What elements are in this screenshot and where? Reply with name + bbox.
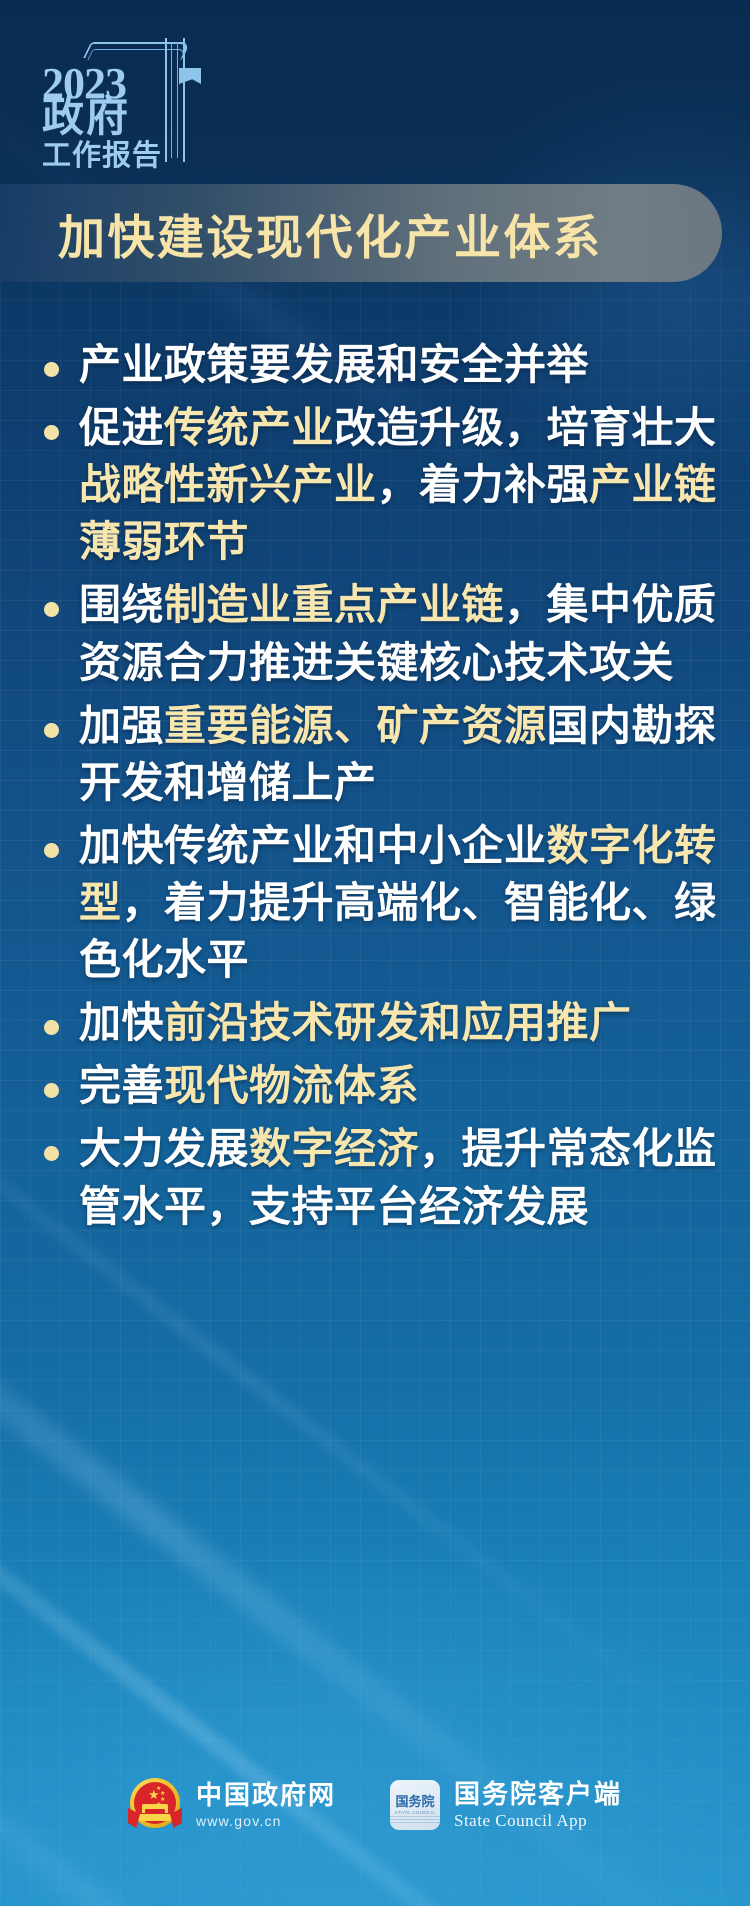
background-glow-bottom — [0, 1526, 750, 1906]
bullet-dot-icon — [44, 1020, 59, 1035]
bullet-plain-segment: 产业政策要发展和安全并举 — [79, 341, 589, 388]
footer: ★ ★ ★ ★ ★ 中国政府网 www.gov.cn 国务院 STATE COU… — [0, 1778, 750, 1832]
bullet-highlight-segment: 传统产业 — [164, 404, 334, 451]
bullet-item: 大力发展数字经济，提升常态化监管水平，支持平台经济发展 — [30, 1120, 720, 1234]
bullet-highlight-segment: 数字经济 — [249, 1125, 419, 1172]
bullet-highlight-segment: 重要能源、矿产资源 — [164, 702, 547, 749]
masthead-line2: 工作报告 — [42, 142, 162, 171]
bullet-dot-icon — [44, 362, 59, 377]
brand-state-council-app[interactable]: 国务院 STATE COUNCIL 国务院客户端 State Council A… — [390, 1780, 622, 1830]
bullet-plain-segment: 围绕 — [79, 581, 164, 628]
light-ray-3 — [0, 1560, 750, 1906]
book-edge-inner — [171, 42, 178, 158]
bullet-text: 加强重要能源、矿产资源国内勘探开发和增储上产 — [79, 697, 720, 811]
bullet-list: 产业政策要发展和安全并举促进传统产业改造升级，培育壮大战略性新兴产业，着力补强产… — [30, 336, 720, 1241]
bullet-item: 完善现代物流体系 — [30, 1057, 720, 1114]
bullet-highlight-segment: 现代物流体系 — [164, 1062, 419, 1109]
book-bookmark-icon — [179, 68, 201, 84]
gov-brand-url: www.gov.cn — [196, 1814, 336, 1828]
bullet-dot-icon — [44, 1083, 59, 1098]
bullet-dot-icon — [44, 1146, 59, 1161]
bullet-plain-segment: 大力发展 — [79, 1125, 249, 1172]
masthead-logo: 2023 政府 工作报告 — [42, 34, 242, 164]
bullet-item: 加快前沿技术研发和应用推广 — [30, 994, 720, 1051]
bullet-highlight-segment: 战略性新兴产业 — [79, 461, 377, 508]
bullet-text: 加快传统产业和中小企业数字化转型，着力提升高端化、智能化、绿色化水平 — [79, 817, 720, 988]
state-council-app-icon: 国务院 STATE COUNCIL — [390, 1780, 440, 1830]
bullet-plain-segment: 完善 — [79, 1062, 164, 1109]
bullet-text: 加快前沿技术研发和应用推广 — [79, 994, 720, 1051]
app-icon-wave — [390, 1814, 440, 1827]
bullet-plain-segment: 加快传统产业和中小企业 — [79, 822, 547, 869]
app-brand-english: State Council App — [454, 1812, 622, 1829]
bullet-text: 完善现代物流体系 — [79, 1057, 720, 1114]
bullet-item: 加强重要能源、矿产资源国内勘探开发和增储上产 — [30, 697, 720, 811]
bullet-highlight-segment: 前沿技术研发和应用推广 — [164, 999, 632, 1046]
gov-brand-name: 中国政府网 — [196, 1782, 336, 1808]
bullet-plain-segment: 改造升级，培育壮大 — [334, 404, 717, 451]
bullet-item: 产业政策要发展和安全并举 — [30, 336, 720, 393]
bullet-plain-segment: ，着力提升高端化、智能化、绿色化水平 — [79, 879, 717, 983]
bullet-item: 围绕制造业重点产业链，集中优质资源合力推进关键核心技术攻关 — [30, 576, 720, 690]
app-brand-name: 国务院客户端 — [454, 1781, 622, 1807]
title-banner: 加快建设现代化产业体系 — [0, 184, 722, 282]
bullet-text: 大力发展数字经济，提升常态化监管水平，支持平台经济发展 — [79, 1120, 720, 1234]
bullet-item: 加快传统产业和中小企业数字化转型，着力提升高端化、智能化、绿色化水平 — [30, 817, 720, 988]
bullet-text: 产业政策要发展和安全并举 — [79, 336, 720, 393]
masthead-line1: 政府 — [42, 96, 130, 138]
poster-root: 2023 政府 工作报告 加快建设现代化产业体系 产业政策要发展和安全并举促进传… — [0, 0, 750, 1906]
bullet-plain-segment: ，着力补强 — [377, 461, 590, 508]
bullet-dot-icon — [44, 602, 59, 617]
brand-gov-cn[interactable]: ★ ★ ★ ★ ★ 中国政府网 www.gov.cn — [128, 1778, 336, 1832]
bullet-text: 围绕制造业重点产业链，集中优质资源合力推进关键核心技术攻关 — [79, 576, 720, 690]
app-icon-label-cn: 国务院 — [395, 1795, 434, 1809]
bullet-dot-icon — [44, 723, 59, 738]
bullet-highlight-segment: 制造业重点产业链 — [164, 581, 504, 628]
bullet-item: 促进传统产业改造升级，培育壮大战略性新兴产业，着力补强产业链薄弱环节 — [30, 399, 720, 570]
bullet-plain-segment: 促进 — [79, 404, 164, 451]
bullet-dot-icon — [44, 843, 59, 858]
bullet-plain-segment: 加强 — [79, 702, 164, 749]
bullet-text: 促进传统产业改造升级，培育壮大战略性新兴产业，着力补强产业链薄弱环节 — [79, 399, 720, 570]
bullet-dot-icon — [44, 425, 59, 440]
page-title: 加快建设现代化产业体系 — [58, 199, 603, 268]
bullet-plain-segment: 加快 — [79, 999, 164, 1046]
national-emblem-icon: ★ ★ ★ ★ ★ — [128, 1778, 182, 1832]
